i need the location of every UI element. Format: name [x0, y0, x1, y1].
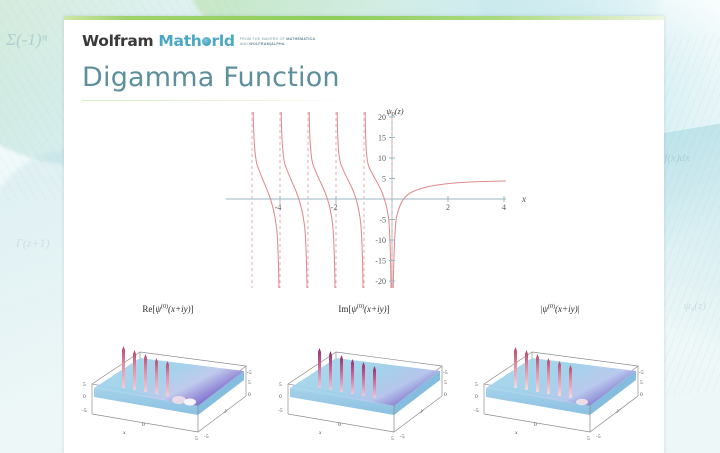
svg-text:5: 5: [640, 380, 643, 386]
svg-text:-5: -5: [379, 216, 386, 225]
svg-text:0: 0: [279, 394, 282, 400]
svg-text:5: 5: [248, 380, 251, 386]
mathworld-logo[interactable]: Wolfram Mathrld FROM THE MAKERS OF MATHE…: [82, 32, 646, 50]
page-title: Digamma Function: [82, 62, 340, 93]
svg-text:4: 4: [502, 203, 506, 212]
svg-text:0: 0: [248, 392, 251, 398]
x-axis-label: x: [521, 194, 526, 204]
svg-text:-5: -5: [204, 434, 209, 440]
svg-text:x: x: [122, 430, 126, 436]
svg-text:0: 0: [534, 422, 537, 428]
svg-text:10: 10: [378, 154, 386, 163]
svg-text:5: 5: [444, 380, 447, 386]
logo-math-text: Math: [158, 32, 201, 50]
svg-text:0: 0: [338, 422, 341, 428]
svg-text:x: x: [318, 430, 322, 436]
background-formula-4: Γ(z+1): [16, 236, 50, 251]
slide-viewer: Σ(-1)ⁿ ∫ f(x)dx ψ₀(z) Γ(z+1) ∑ 1/n² Wolf…: [0, 0, 720, 453]
svg-text:-10: -10: [375, 236, 386, 245]
digamma-imaginary-part-surface: Im[ψ(0)(x+iy)]: [274, 304, 454, 453]
logo-tagline-line1: FROM THE MAKERS OF: [240, 37, 287, 41]
logo-tagline-mathematica: MATHEMATICA: [286, 37, 315, 41]
svg-text:-2: -2: [331, 203, 338, 212]
svg-text:-15: -15: [375, 257, 386, 266]
logo-mathworld-text: Mathrld: [158, 32, 234, 50]
digamma-real-part-surface: Re[ψ(0)(x+iy)]: [78, 304, 258, 453]
svg-text:5: 5: [587, 436, 590, 442]
svg-text:0: 0: [83, 394, 86, 400]
svg-text:5: 5: [382, 175, 386, 184]
svg-text:5: 5: [83, 382, 86, 388]
svg-text:x: x: [514, 430, 518, 436]
svg-text:20: 20: [378, 113, 386, 122]
svg-text:y: y: [616, 408, 620, 414]
background-formula-1: Σ(-1)ⁿ: [6, 30, 47, 50]
logo-tagline-line2: AND: [240, 42, 250, 46]
logo-wolfram-text: Wolfram: [82, 32, 153, 50]
surface-title-abs: |ψ(0)(x+iy)|: [470, 304, 650, 314]
surface-title-im: Im[ψ(0)(x+iy)]: [274, 304, 454, 314]
asymptote-lines-red: [252, 112, 392, 288]
logo-tagline-wolframalpha: WOLFRAM|ALPHA: [249, 42, 284, 46]
slide-card: Wolfram Mathrld FROM THE MAKERS OF MATHE…: [64, 16, 664, 453]
svg-text:2: 2: [446, 203, 450, 212]
slide-header: Wolfram Mathrld FROM THE MAKERS OF MATHE…: [82, 32, 646, 54]
surface-svg-im: 5 0 -5 5 0 -5 0 5 -5 x y: [274, 318, 454, 453]
digamma-plot-svg: 20 15 10 5 -5 -10 -15 -20: [214, 104, 534, 294]
svg-text:-5: -5: [474, 408, 479, 414]
logo-world-text: rld: [212, 32, 235, 50]
svg-text:5: 5: [195, 436, 198, 442]
svg-text:-5: -5: [639, 370, 644, 376]
digamma-real-plot: 20 15 10 5 -5 -10 -15 -20: [214, 104, 534, 294]
svg-text:0: 0: [444, 392, 447, 398]
surface-plot-row: Re[ψ(0)(x+iy)]: [78, 304, 650, 453]
svg-text:-5: -5: [443, 370, 448, 376]
x-axis-ticks: -2 -4 2 4: [275, 196, 506, 212]
svg-text:-5: -5: [596, 434, 601, 440]
surface-svg-re: 5 0 -5 5 0 -5 0 5 -5 x y: [78, 318, 258, 453]
svg-text:y: y: [224, 408, 228, 414]
svg-text:5: 5: [475, 382, 478, 388]
svg-text:0: 0: [475, 394, 478, 400]
svg-text:-5: -5: [247, 370, 252, 376]
svg-text:-20: -20: [375, 277, 386, 286]
digamma-absolute-value-surface: |ψ(0)(x+iy)|: [470, 304, 650, 453]
svg-text:5: 5: [279, 382, 282, 388]
svg-text:0: 0: [142, 422, 145, 428]
svg-text:-5: -5: [400, 434, 405, 440]
asymptote-lines: [252, 112, 392, 288]
svg-text:-5: -5: [82, 408, 87, 414]
title-divider: [82, 100, 344, 101]
surface-svg-abs: 5 0 -5 5 0 -5 0 5 -5 x y: [470, 318, 650, 453]
slide-accent-bar: [64, 16, 664, 20]
background-formula-3: ψ₀(z): [684, 300, 706, 312]
svg-text:5: 5: [391, 436, 394, 442]
svg-text:y: y: [420, 408, 424, 414]
svg-text:-4: -4: [275, 203, 282, 212]
logo-tagline: FROM THE MAKERS OF MATHEMATICA AND WOLFR…: [240, 37, 316, 50]
svg-text:-5: -5: [278, 408, 283, 414]
svg-text:15: 15: [378, 134, 386, 143]
y-axis-label: ψ0(z): [386, 106, 403, 118]
surface-title-re: Re[ψ(0)(x+iy)]: [78, 304, 258, 314]
logo-globe-icon: [202, 37, 211, 46]
svg-text:0: 0: [640, 392, 643, 398]
